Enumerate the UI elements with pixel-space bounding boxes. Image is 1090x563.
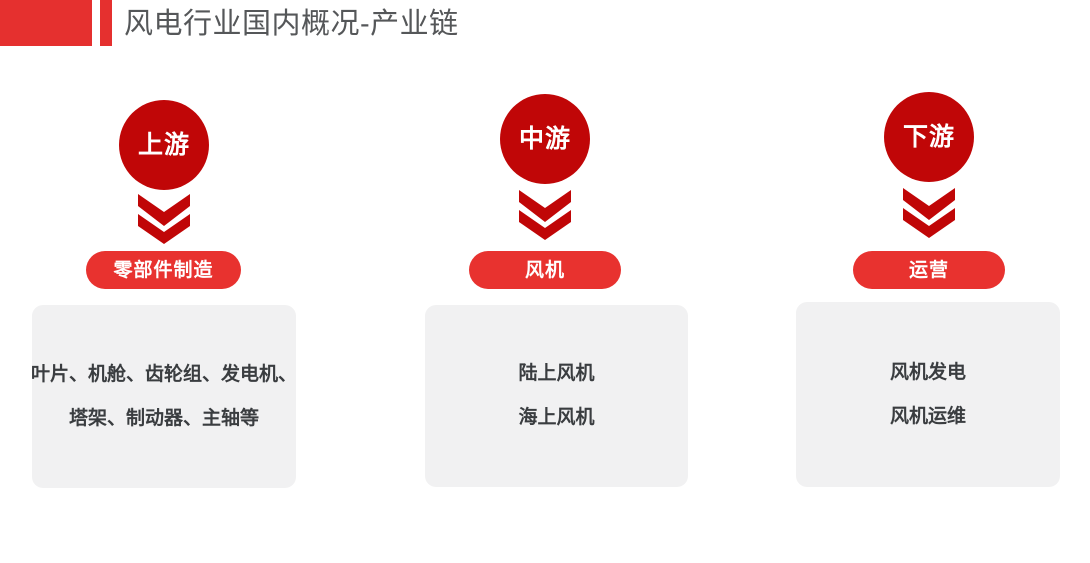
segment-pill-upstream[interactable]: 零部件制造 [86, 251, 241, 289]
double-chevron-down-icon [901, 188, 957, 238]
segment-pill-label: 风机 [525, 261, 565, 280]
stage-circle-downstream[interactable]: 下游 [884, 92, 974, 182]
stage-circle-upstream[interactable]: 上游 [119, 100, 209, 190]
panel-line: 塔架、制动器、主轴等 [69, 397, 259, 441]
panel-line: 叶片、机舱、齿轮组、发电机、 [31, 353, 297, 397]
stage-circle-label: 中游 [519, 127, 571, 152]
panel-line: 风机运维 [890, 395, 966, 439]
double-chevron-down-icon [517, 190, 573, 240]
double-chevron-down-icon [136, 194, 192, 244]
stage-circle-midstream[interactable]: 中游 [500, 94, 590, 184]
content-panel-upstream: 叶片、机舱、齿轮组、发电机、 塔架、制动器、主轴等 [32, 305, 296, 488]
content-panel-midstream: 陆上风机 海上风机 [425, 305, 688, 487]
industry-chain-diagram: 上游 零部件制造 叶片、机舱、齿轮组、发电机、 塔架、制动器、主轴等 中游 [0, 0, 1090, 563]
stage-circle-label: 上游 [138, 133, 190, 158]
content-panel-downstream: 风机发电 风机运维 [796, 302, 1060, 487]
segment-pill-label: 运营 [909, 261, 949, 280]
panel-line: 海上风机 [518, 396, 594, 440]
panel-line: 风机发电 [890, 351, 966, 395]
segment-pill-downstream[interactable]: 运营 [853, 251, 1005, 289]
panel-line: 陆上风机 [518, 352, 594, 396]
segment-pill-label: 零部件制造 [113, 261, 213, 280]
segment-pill-midstream[interactable]: 风机 [469, 251, 621, 289]
stage-circle-label: 下游 [903, 125, 955, 150]
